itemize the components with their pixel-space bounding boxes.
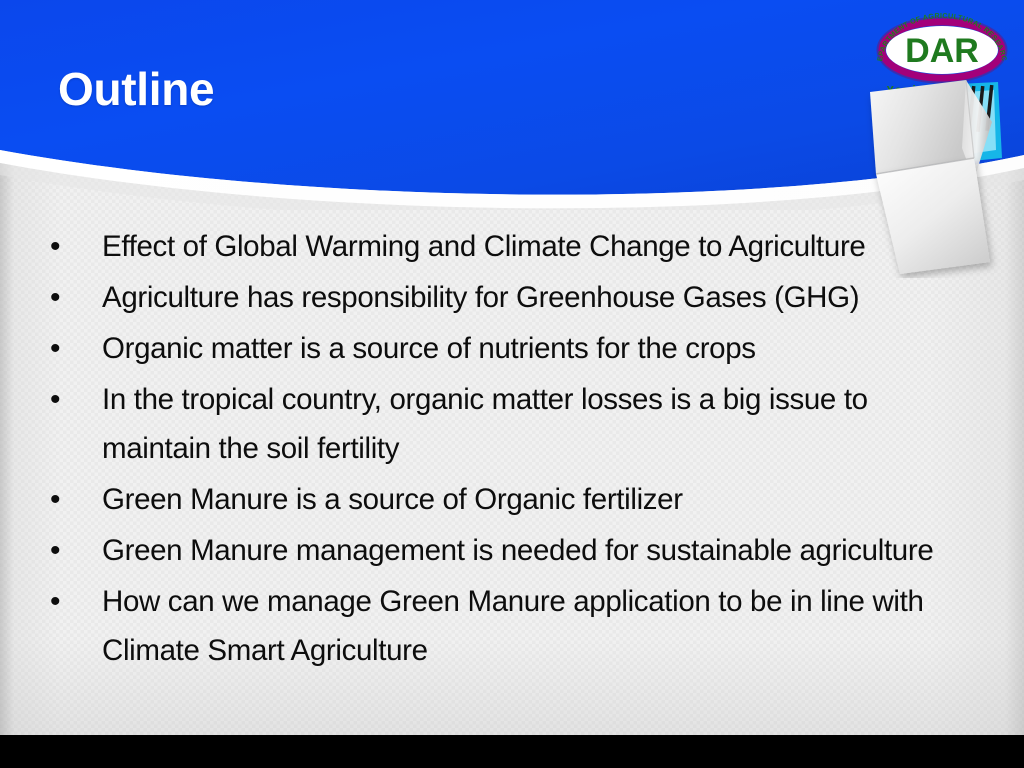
bullet-marker-icon: • [40, 324, 102, 373]
bullet-marker-icon: • [40, 577, 102, 626]
list-item: • In the tropical country, organic matte… [40, 375, 984, 473]
bullet-marker-icon: • [40, 222, 102, 271]
bullet-list: • Effect of Global Warming and Climate C… [40, 222, 984, 677]
list-item: • Organic matter is a source of nutrient… [40, 324, 984, 373]
presentation-slide: Outline DAR DEPARTMENT OF AGRICULTURAL R… [0, 0, 1024, 735]
bullet-marker-icon: • [40, 526, 102, 575]
bullet-marker-icon: • [40, 273, 102, 322]
bullet-text: Agriculture has responsibility for Green… [102, 273, 947, 322]
list-item: • Green Manure management is needed for … [40, 526, 984, 575]
bullet-text: Green Manure is a source of Organic fert… [102, 475, 947, 524]
bullet-text: In the tropical country, organic matter … [102, 375, 947, 473]
list-item: • Agriculture has responsibility for Gre… [40, 273, 984, 322]
letterbox-bottom-bar [0, 735, 1024, 768]
bullet-text: Effect of Global Warming and Climate Cha… [102, 222, 947, 271]
bullet-text: How can we manage Green Manure applicati… [102, 577, 947, 675]
bullet-text: Green Manure management is needed for su… [102, 526, 947, 575]
list-item: • Effect of Global Warming and Climate C… [40, 222, 984, 271]
bullet-marker-icon: • [40, 475, 102, 524]
bullet-text: Organic matter is a source of nutrients … [102, 324, 947, 373]
bullet-marker-icon: • [40, 375, 102, 424]
page-title: Outline [58, 66, 214, 112]
list-item: • How can we manage Green Manure applica… [40, 577, 984, 675]
list-item: • Green Manure is a source of Organic fe… [40, 475, 984, 524]
